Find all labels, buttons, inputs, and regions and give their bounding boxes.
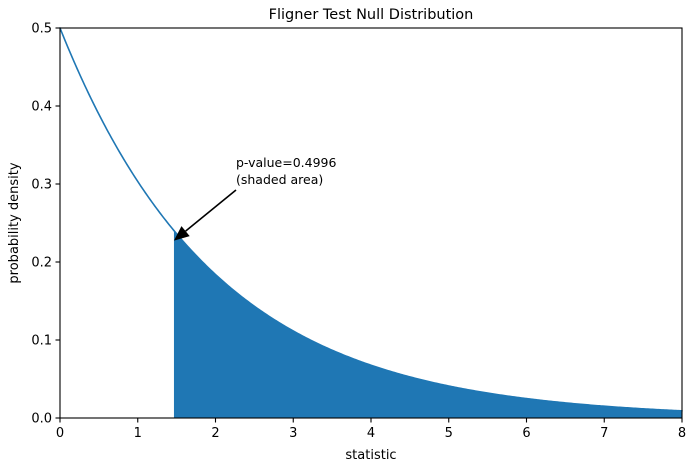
chart-title: Fligner Test Null Distribution — [269, 7, 474, 23]
chart-canvas: 012345678 0.00.10.20.30.40.5 statistic p… — [0, 0, 695, 470]
x-tick-label: 5 — [445, 426, 453, 441]
x-tick-label: 4 — [367, 426, 375, 441]
x-tick-label: 8 — [678, 426, 686, 441]
x-tick-label: 6 — [522, 426, 530, 441]
plot-area-background — [60, 28, 682, 418]
y-tick-label: 0.5 — [31, 22, 52, 37]
y-tick-label: 0.3 — [31, 178, 52, 193]
x-tick-label: 0 — [56, 426, 64, 441]
x-tick-label: 3 — [289, 426, 297, 441]
y-tick-label: 0.4 — [31, 100, 52, 115]
y-tick-label: 0.1 — [31, 334, 52, 349]
matplotlib-figure: 012345678 0.00.10.20.30.40.5 statistic p… — [0, 0, 695, 470]
x-tick-label: 7 — [600, 426, 608, 441]
x-tick-label: 2 — [211, 426, 219, 441]
annotation-shaded-area-text: (shaded area) — [236, 172, 323, 187]
y-tick-label: 0.2 — [31, 256, 52, 271]
x-tick-label: 1 — [134, 426, 142, 441]
annotation-pvalue-text: p-value=0.4996 — [236, 155, 337, 170]
y-axis-label: probability density — [7, 162, 22, 283]
y-tick-label: 0.0 — [31, 412, 52, 427]
x-axis-label: statistic — [345, 448, 396, 463]
